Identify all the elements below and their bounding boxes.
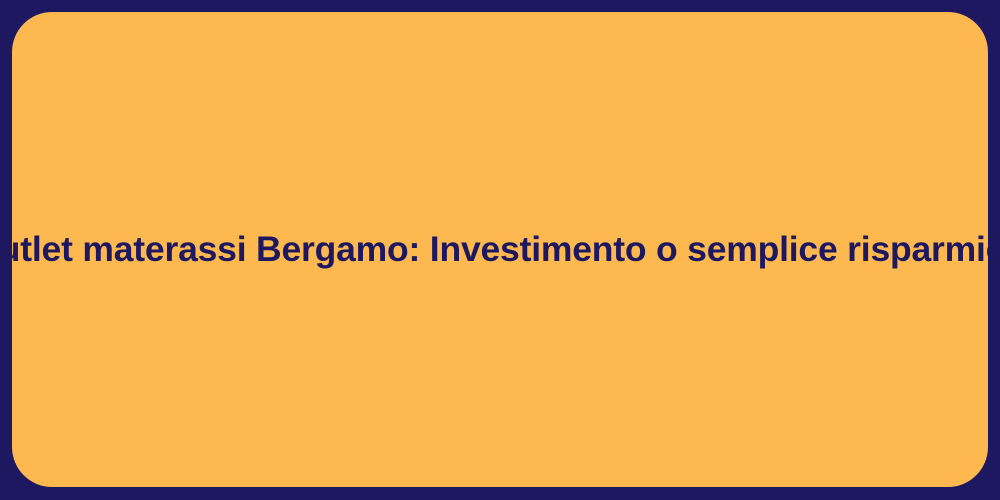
banner-title: Outlet materassi Bergamo: Investimento o… xyxy=(0,228,1000,271)
banner-canvas: Outlet materassi Bergamo: Investimento o… xyxy=(12,12,988,487)
banner-frame: Outlet materassi Bergamo: Investimento o… xyxy=(0,0,1000,500)
